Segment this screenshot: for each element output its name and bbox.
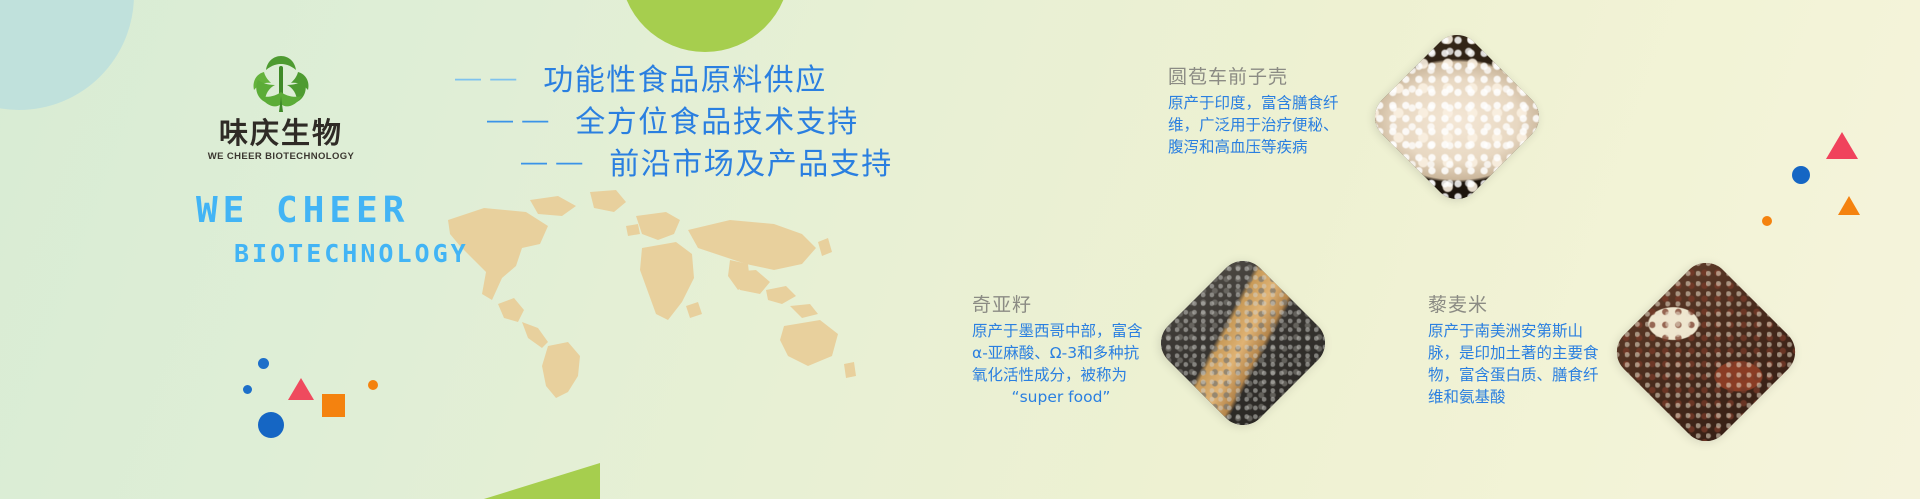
chia-seeds-photo[interactable] [1151, 251, 1335, 435]
headline-text-2: 全方位食品技术支持 [575, 97, 859, 141]
headline-dash-icon: — — [521, 148, 583, 174]
chia-seeds-photo-inner [1151, 251, 1335, 435]
we-cheer-wordmark: WE CHEER BIOTECHNOLOGY [196, 190, 516, 268]
quinoa-rice-photo[interactable] [1607, 253, 1805, 451]
orange-dot-shape [368, 380, 378, 390]
psyllium-husk-photo-inner [1365, 25, 1549, 209]
product-description-3: 原产于南美洲安第斯山脉，是印加土著的主要食物，富含蛋白质、膳食纤维和氨基酸 [1428, 320, 1606, 408]
headline-row-2: — — 全方位食品技术支持 [455, 98, 975, 140]
blue-dot-large-shape [258, 412, 284, 438]
headline-row-3: — — 前沿市场及产品支持 [455, 140, 975, 182]
product-card-psyllium[interactable]: 圆苞车前子壳 原产于印度，富含膳食纤维，广泛用于治疗便秘、腹泻和高血压等疾病 [1168, 62, 1346, 158]
red-triangle-shape [288, 378, 314, 400]
pink-triangle-shape [1826, 132, 1858, 159]
orange-dot-right-shape [1762, 216, 1772, 226]
leaf-tree-logo-icon [246, 52, 316, 114]
wordmark-line-1: WE CHEER [196, 190, 516, 231]
product-title-1: 圆苞车前子壳 [1168, 62, 1346, 89]
product-description-2-quote: “super food” [972, 386, 1150, 408]
wordmark-line-2: BIOTECHNOLOGY [234, 239, 516, 268]
headline-dash-icon: — — [455, 64, 517, 90]
lime-bottom-wedge-shape [400, 463, 600, 499]
product-description-2: 原产于墨西哥中部，富含α-亚麻酸、Ω-3和多种抗氧化活性成分，被称为 “supe… [972, 320, 1150, 408]
product-title-2: 奇亚籽 [972, 290, 1150, 317]
orange-triangle-right-shape [1838, 196, 1860, 215]
lime-top-circle-shape [620, 0, 790, 52]
quinoa-rice-photo-inner [1607, 253, 1805, 451]
product-card-chia[interactable]: 奇亚籽 原产于墨西哥中部，富含α-亚麻酸、Ω-3和多种抗氧化活性成分，被称为 “… [972, 290, 1150, 408]
teal-corner-circle-shape [0, 0, 134, 110]
headline-text-3: 前沿市场及产品支持 [609, 139, 893, 183]
logo-company-name-cn: 味庆生物 [196, 118, 366, 148]
product-description-2-text: 原产于墨西哥中部，富含α-亚麻酸、Ω-3和多种抗氧化活性成分，被称为 [972, 322, 1143, 384]
headline-dash-icon: — — [487, 106, 549, 132]
headline-text-1: 功能性食品原料供应 [543, 55, 827, 99]
blue-dot-small-shape [243, 385, 252, 394]
psyllium-husk-photo[interactable] [1365, 25, 1549, 209]
headline-row-1: — — 功能性食品原料供应 [455, 56, 975, 98]
product-title-3: 藜麦米 [1428, 290, 1606, 317]
banner-root: 味庆生物 WE CHEER BIOTECHNOLOGY WE CHEER BIO… [0, 0, 1920, 499]
product-description-1: 原产于印度，富含膳食纤维，广泛用于治疗便秘、腹泻和高血压等疾病 [1168, 92, 1346, 158]
blue-dot-small-shape [258, 358, 269, 369]
headline-block: — — 功能性食品原料供应 — — 全方位食品技术支持 — — 前沿市场及产品支… [455, 56, 975, 182]
blue-dot-right-shape [1792, 166, 1810, 184]
company-logo[interactable]: 味庆生物 WE CHEER BIOTECHNOLOGY [196, 52, 366, 162]
product-card-quinoa[interactable]: 藜麦米 原产于南美洲安第斯山脉，是印加土著的主要食物，富含蛋白质、膳食纤维和氨基… [1428, 290, 1606, 408]
logo-company-name-en: WE CHEER BIOTECHNOLOGY [196, 151, 366, 162]
orange-square-shape [322, 394, 345, 417]
